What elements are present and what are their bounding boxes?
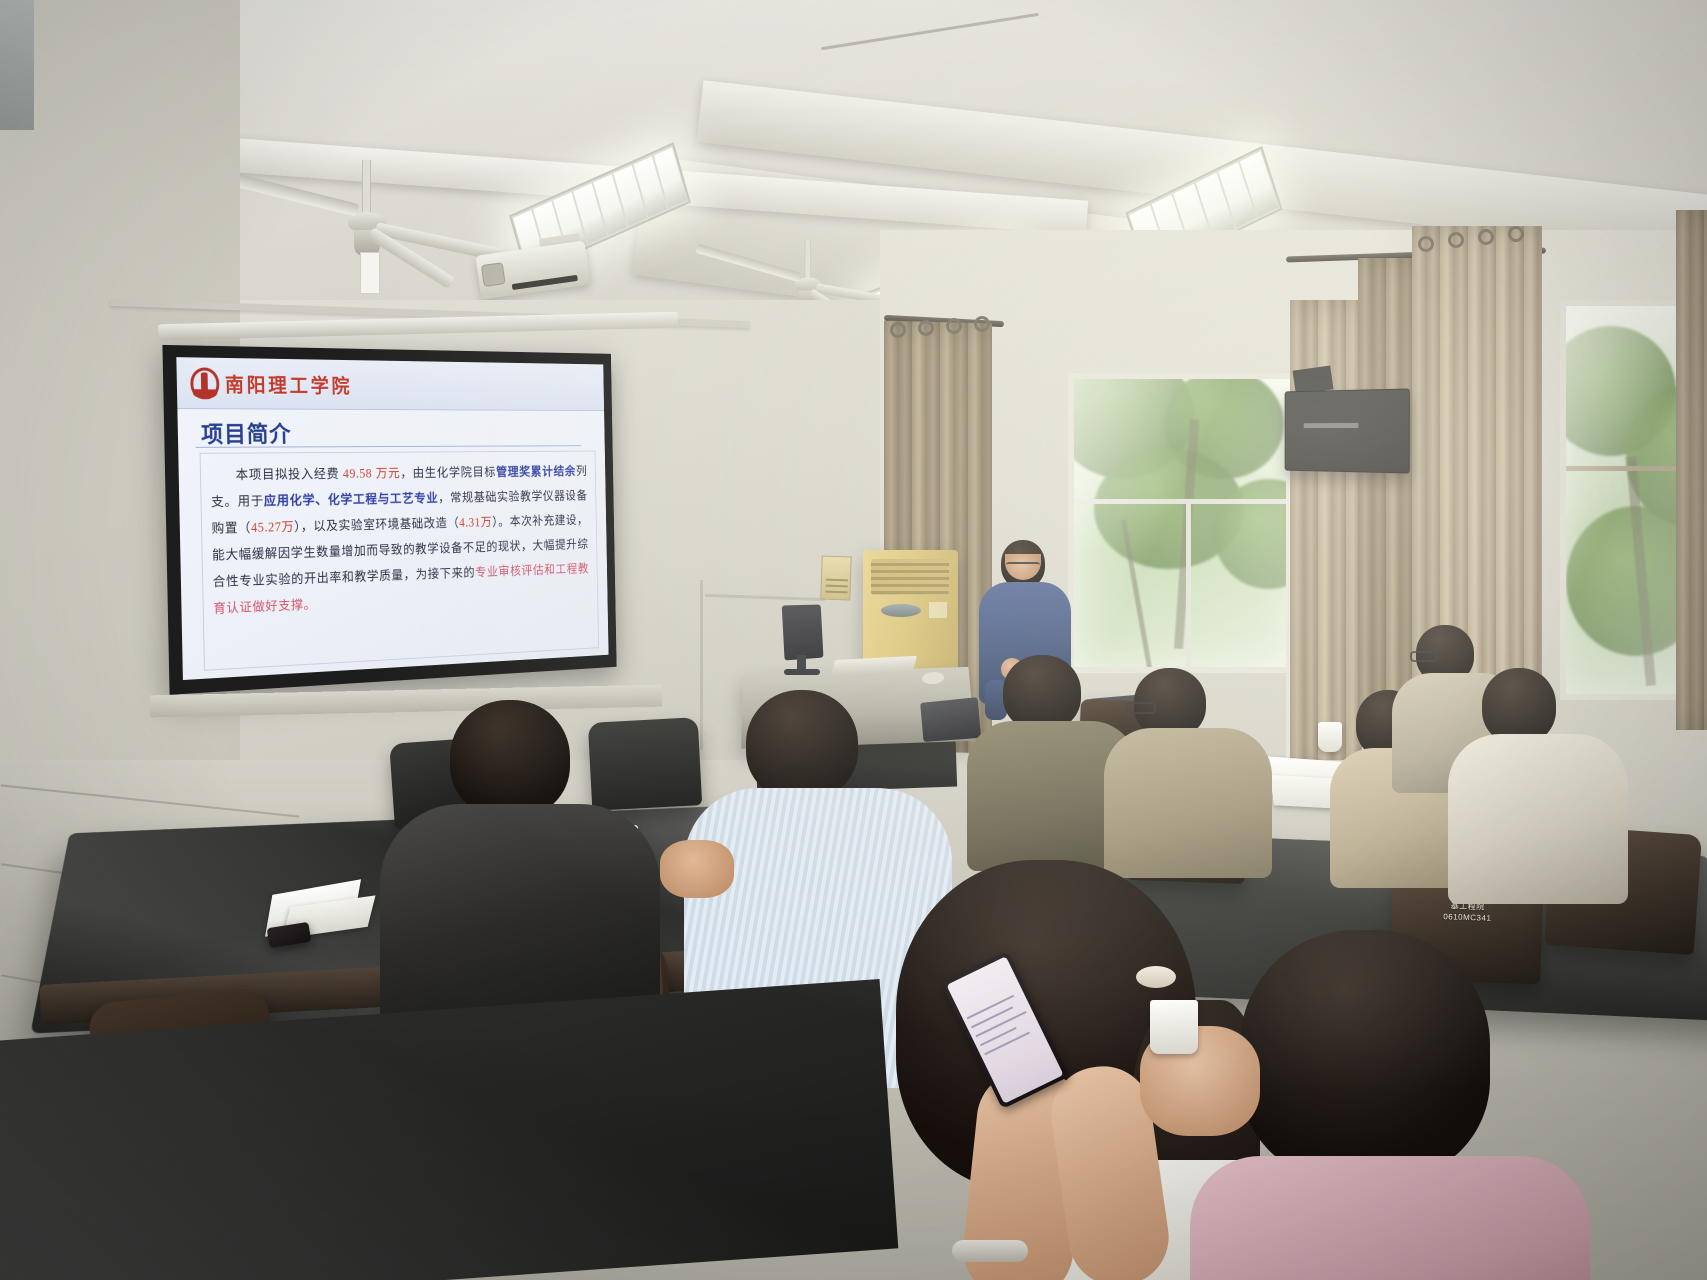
left-wall-edge [0, 0, 34, 130]
slide-body: 本项目拟投入经费 49.58 万元，由生化学院目标管理奖累计结余列支。用于应用化… [200, 451, 599, 671]
glasses-icon [1410, 651, 1438, 662]
run-fund-source: 管理奖累计结余 [496, 464, 576, 479]
window-left [1068, 373, 1298, 673]
run-closing: 做好支撑。 [252, 597, 316, 614]
run-renovation-cost: 4.31万 [459, 515, 492, 530]
bracelet [952, 1240, 1028, 1262]
curtain-panel-5 [1676, 210, 1707, 730]
run-budget: 49.58 万元 [343, 466, 401, 481]
ac-badge [881, 604, 921, 617]
curtain-grommet [1508, 226, 1524, 242]
curtain-grommet [890, 322, 906, 338]
wall-speaker [1285, 388, 1410, 473]
chair-back-1[interactable] [588, 717, 702, 811]
curtain-grommet [1448, 232, 1464, 248]
foreground-torso-2 [1190, 1156, 1590, 1280]
ceiling-crack [821, 13, 1039, 50]
hair-tie [1136, 966, 1176, 988]
attendee-torso [1448, 734, 1628, 904]
run-majors: 应用化学、化学工程与工艺专业 [264, 491, 439, 508]
curtain-panel-3 [1358, 258, 1418, 738]
run-8: ），以及实验室环境基础改造（ [294, 516, 459, 534]
presenter-glasses-icon [1006, 562, 1040, 568]
wall-control-panel[interactable] [820, 555, 852, 600]
attendee-hand [660, 840, 734, 898]
speaker-brand-strip [1304, 423, 1359, 428]
paper-cup-3 [1150, 1000, 1198, 1054]
laptop-podium[interactable] [920, 697, 981, 742]
curtain-grommet [1418, 236, 1434, 252]
conference-room-photo: 南阳理工学院 项目简介 本项目拟投入经费 49.58 万元，由生化学院目标管理奖… [0, 0, 1707, 1280]
attendee-head [450, 700, 570, 818]
curtain-grommet [1478, 229, 1494, 245]
ac-label [929, 602, 947, 618]
slide-header: 南阳理工学院 [176, 357, 604, 411]
run-equipment-cost: 45.27万 [251, 519, 295, 535]
attendee-head [1482, 668, 1556, 744]
run-2: ，由生化学院目标 [400, 465, 496, 480]
glasses-icon [1126, 702, 1156, 714]
slide-title: 项目简介 [201, 415, 292, 449]
ac-grille [871, 559, 949, 595]
attendee-torso [1104, 728, 1272, 878]
wall-seam [700, 580, 703, 750]
attendee-head [746, 690, 858, 800]
foreground-head-2 [1240, 930, 1490, 1180]
attendee-head [1003, 655, 1081, 731]
curtain-grommet [946, 318, 962, 334]
curtain-grommet [918, 320, 934, 336]
run-0: 本项目拟投入经费 [236, 466, 344, 482]
projector-lens [481, 262, 506, 287]
university-name-cn: 南阳理工学院 [225, 369, 353, 399]
university-logo-icon [190, 367, 219, 399]
slide-surface: 南阳理工学院 项目简介 本项目拟投入经费 49.58 万元，由生化学院目标管理奖… [176, 357, 608, 680]
desktop-monitor[interactable] [782, 605, 824, 661]
paper-cup-2 [1318, 722, 1342, 752]
slide-title-rule [196, 445, 581, 448]
slide-paragraph: 本项目拟投入经费 49.58 万元，由生化学院目标管理奖累计结余列支。用于应用化… [210, 459, 589, 622]
curtain-grommet [974, 316, 990, 332]
projection-screen: 南阳理工学院 项目简介 本项目拟投入经费 49.58 万元，由生化学院目标管理奖… [162, 345, 616, 695]
monitor-foot [784, 669, 820, 675]
